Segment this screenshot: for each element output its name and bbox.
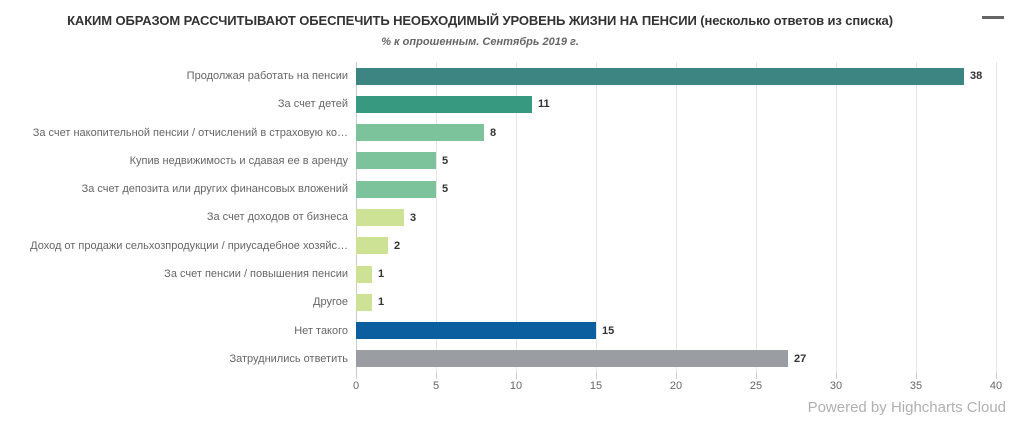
bar-row[interactable]: 15 — [356, 322, 996, 339]
bar-value-label: 3 — [404, 212, 416, 224]
bar[interactable] — [356, 152, 436, 169]
bar-row[interactable]: 5 — [356, 181, 996, 198]
category-label: Нет такого — [18, 325, 348, 337]
x-axis-tick — [996, 373, 997, 379]
bar-value-label: 2 — [388, 240, 400, 252]
chart-subtitle: % к опрошенным. Сентябрь 2019 г. — [0, 36, 960, 48]
bar-value-label: 5 — [436, 155, 448, 167]
bar[interactable] — [356, 209, 404, 226]
bar[interactable] — [356, 294, 372, 311]
x-axis-tick — [436, 373, 437, 379]
category-label-slot[interactable]: Другое — [10, 288, 348, 316]
category-label: За счет детей — [18, 98, 348, 110]
bar-row[interactable]: 5 — [356, 152, 996, 169]
x-axis-tick — [756, 373, 757, 379]
bar-value-label: 1 — [372, 296, 384, 308]
category-label: За счет доходов от бизнеса — [18, 211, 348, 223]
category-label-slot[interactable]: Затруднились ответить — [10, 345, 348, 373]
bar-row[interactable]: 2 — [356, 237, 996, 254]
category-axis-labels: Продолжая работать на пенсииЗа счет дете… — [10, 62, 348, 373]
x-axis-tick — [596, 373, 597, 379]
x-axis-tick-label: 30 — [830, 380, 842, 392]
x-axis-tick — [356, 373, 357, 379]
category-label-slot[interactable]: Продолжая работать на пенсии — [10, 62, 348, 90]
bar[interactable] — [356, 68, 964, 85]
bar-value-label: 8 — [484, 127, 496, 139]
bar-row[interactable]: 8 — [356, 124, 996, 141]
bar[interactable] — [356, 322, 596, 339]
category-label: Другое — [18, 296, 348, 308]
category-label: Продолжая работать на пенсии — [18, 70, 348, 82]
category-label: За счет пенсии / повышения пенсии — [18, 268, 348, 280]
bar-value-label: 27 — [788, 353, 806, 365]
category-label: Купив недвижимость и сдавая ее в аренду — [18, 155, 348, 167]
x-axis-tick-label: 35 — [910, 380, 922, 392]
highcharts-credits[interactable]: Powered by Highcharts Cloud — [808, 399, 1006, 416]
bar[interactable] — [356, 124, 484, 141]
x-axis-tick-label: 40 — [990, 380, 1002, 392]
bar-value-label: 11 — [532, 98, 550, 110]
bar-row[interactable]: 1 — [356, 294, 996, 311]
bar-row[interactable]: 3 — [356, 209, 996, 226]
category-label-slot[interactable]: За счет доходов от бизнеса — [10, 203, 348, 231]
category-label-slot[interactable]: Доход от продажи сельхозпродукции / приу… — [10, 232, 348, 260]
category-label: За счет накопительной пенсии / отчислени… — [18, 127, 348, 139]
bar[interactable] — [356, 237, 388, 254]
bar[interactable] — [356, 96, 532, 113]
category-label: Доход от продажи сельхозпродукции / приу… — [18, 240, 348, 252]
category-label-slot[interactable]: Купив недвижимость и сдавая ее в аренду — [10, 147, 348, 175]
x-axis-tick-label: 25 — [750, 380, 762, 392]
chart-container: КАКИМ ОБРАЗОМ РАССЧИТЫВАЮТ ОБЕСПЕЧИТЬ НЕ… — [0, 0, 1024, 436]
chart-title: КАКИМ ОБРАЗОМ РАССЧИТЫВАЮТ ОБЕСПЕЧИТЬ НЕ… — [0, 13, 960, 28]
bar-value-label: 5 — [436, 183, 448, 195]
bar[interactable] — [356, 266, 372, 283]
category-label-slot[interactable]: За счет пенсии / повышения пенсии — [10, 260, 348, 288]
bar-row[interactable]: 1 — [356, 266, 996, 283]
bar[interactable] — [356, 350, 788, 367]
category-label: За счет депозита или других финансовых в… — [18, 183, 348, 195]
x-axis-tick — [516, 373, 517, 379]
hamburger-menu-icon[interactable] — [982, 16, 1012, 42]
x-axis-tick-label: 10 — [510, 380, 522, 392]
x-axis-tick — [916, 373, 917, 379]
bar-row[interactable]: 11 — [356, 96, 996, 113]
x-gridline — [996, 62, 997, 373]
x-axis-tick-label: 5 — [433, 380, 439, 392]
x-axis-tick-label: 20 — [670, 380, 682, 392]
x-axis-tick — [676, 373, 677, 379]
bar-value-label: 1 — [372, 268, 384, 280]
category-label-slot[interactable]: За счет депозита или других финансовых в… — [10, 175, 348, 203]
bar-row[interactable]: 27 — [356, 350, 996, 367]
category-label-slot[interactable]: Нет такого — [10, 316, 348, 344]
bar-value-label: 15 — [596, 325, 614, 337]
bar-value-label: 38 — [964, 70, 982, 82]
plot-area: 0510152025303540381185532111527 — [356, 62, 996, 373]
x-axis-tick-label: 15 — [590, 380, 602, 392]
bar[interactable] — [356, 181, 436, 198]
bar-row[interactable]: 38 — [356, 68, 996, 85]
category-label-slot[interactable]: За счет накопительной пенсии / отчислени… — [10, 119, 348, 147]
category-label-slot[interactable]: За счет детей — [10, 90, 348, 118]
x-axis-tick — [836, 373, 837, 379]
category-label: Затруднились ответить — [18, 353, 348, 365]
x-axis-tick-label: 0 — [353, 380, 359, 392]
hamburger-bar — [982, 16, 1004, 19]
